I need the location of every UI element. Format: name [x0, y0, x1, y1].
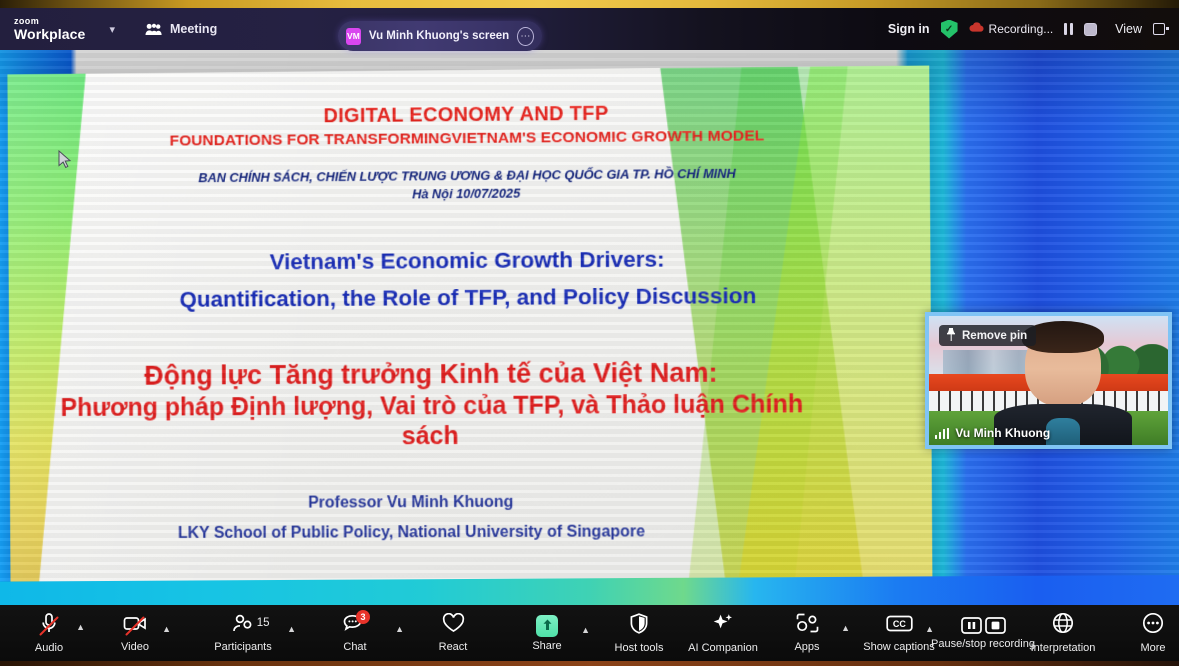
more-dots-icon	[1142, 612, 1164, 639]
top-bar: zoom Workplace ▾ Meeting VM Vu Minh Khuo…	[0, 8, 1179, 50]
toolbar-participants-button[interactable]: 15 Participants ▲	[216, 614, 270, 653]
toolbar-apps-button[interactable]: Apps ▲	[780, 613, 834, 653]
share-options-caret[interactable]: ▲	[581, 625, 590, 635]
chat-icon: 3	[343, 614, 367, 638]
pause-icon[interactable]	[1064, 23, 1073, 35]
recording-label: Recording...	[989, 22, 1054, 36]
toolbar-ai-companion-button[interactable]: AI Companion	[696, 613, 750, 654]
toolbar-pause-stop-recording-button[interactable]: Pause/stop recording	[956, 616, 1010, 650]
toolbar-video-button[interactable]: Video ▲	[108, 614, 162, 653]
slide-title-vn-2: Phương pháp Định lượng, Vai trò của TFP,…	[49, 389, 815, 453]
chevron-down-icon[interactable]: ▾	[109, 23, 115, 36]
slide-date: Hà Nội 10/07/2025	[8, 182, 930, 204]
stop-icon[interactable]	[1084, 23, 1097, 36]
toolbar-more-button[interactable]: More	[1126, 612, 1179, 654]
monitor-bezel-top	[0, 0, 1179, 8]
toolbar-label: More	[1140, 642, 1165, 654]
toolbar-label: Show captions	[863, 641, 935, 653]
video-feed: Remove pin Vu Minh Khuong	[929, 316, 1168, 445]
ai-sparkle-icon	[711, 613, 735, 639]
toolbar-audio-button[interactable]: Audio ▲	[22, 612, 76, 654]
pause-stop-record-icon	[961, 616, 1006, 635]
chat-options-caret[interactable]: ▲	[395, 624, 404, 634]
chat-unread-badge: 3	[356, 610, 370, 624]
toolbar-share-button[interactable]: Share ▲	[520, 615, 574, 652]
view-button[interactable]: View	[1115, 22, 1142, 36]
cloud-recording-icon	[969, 20, 984, 38]
video-options-caret[interactable]: ▲	[162, 624, 171, 634]
toolbar-show-captions-button[interactable]: CC Show captions ▲	[872, 614, 926, 653]
slide-content: DIGITAL ECONOMY AND TFP FOUNDATIONS FOR …	[7, 66, 932, 587]
security-shield-icon[interactable]: ✓	[941, 20, 958, 39]
meeting-label: Meeting	[170, 22, 217, 36]
toolbar-react-button[interactable]: React	[426, 613, 480, 653]
share-title: Vu Minh Khuong's screen	[369, 30, 509, 42]
zoom-logo: zoom Workplace	[14, 17, 85, 41]
heart-react-icon	[442, 613, 465, 638]
more-options-icon[interactable]: ⋯	[517, 27, 534, 46]
presentation-slide: DIGITAL ECONOMY AND TFP FOUNDATIONS FOR …	[7, 66, 932, 587]
slide-title-en-2: Quantification, the Role of TFP, and Pol…	[9, 282, 931, 314]
toolbar-label: Apps	[794, 641, 819, 653]
apps-icon	[796, 613, 819, 638]
participants-options-caret[interactable]: ▲	[287, 624, 296, 634]
participants-count: 15	[257, 617, 270, 629]
brand-workplace: Workplace	[14, 27, 85, 41]
zoom-meeting-window: zoom Workplace ▾ Meeting VM Vu Minh Khuo…	[0, 0, 1179, 666]
camera-muted-icon	[123, 614, 147, 638]
pin-icon	[946, 328, 956, 344]
audio-options-caret[interactable]: ▲	[76, 622, 85, 632]
screen-share-indicator[interactable]: VM Vu Minh Khuong's screen ⋯	[338, 21, 542, 51]
toolbar-label: Chat	[343, 641, 366, 653]
globe-icon	[1052, 612, 1074, 639]
host-tools-shield-icon	[629, 613, 649, 639]
slide-presenter: Professor Vu Minh Khuong	[10, 493, 816, 514]
toolbar-label: Host tools	[615, 642, 664, 654]
people-icon	[145, 23, 162, 36]
toolbar-chat-button[interactable]: 3 Chat ▲	[328, 614, 382, 653]
apps-options-caret[interactable]: ▲	[841, 623, 850, 633]
avatar: VM	[346, 28, 361, 45]
participants-icon: 15	[232, 614, 255, 638]
remove-pin-button[interactable]: Remove pin	[939, 325, 1036, 346]
microphone-muted-icon	[39, 612, 59, 639]
toolbar-label: Video	[121, 641, 149, 653]
toolbar-host-tools-button[interactable]: Host tools	[612, 613, 666, 654]
meeting-controls-toolbar: Audio ▲ Video ▲ 15 Participants ▲ 3 C	[0, 605, 1179, 661]
toolbar-label: Audio	[35, 642, 63, 654]
share-screen-icon	[536, 615, 558, 637]
view-layout-icon[interactable]	[1153, 23, 1165, 35]
shared-screen-stage: DIGITAL ECONOMY AND TFP FOUNDATIONS FOR …	[0, 50, 1179, 605]
slide-title-en-1: Vietnam's Economic Growth Drivers:	[9, 245, 931, 277]
captions-options-caret[interactable]: ▲	[925, 624, 934, 634]
toolbar-label: Pause/stop recording	[931, 638, 1035, 650]
toolbar-label: Participants	[214, 641, 271, 653]
slide-affiliation: LKY School of Public Policy, National Un…	[10, 523, 816, 544]
toolbar-label: AI Companion	[688, 642, 758, 654]
participant-name: Vu Minh Khuong	[955, 426, 1050, 440]
slide-title-vn-1: Động lực Tăng trưởng Kinh tế của Việt Na…	[49, 356, 815, 393]
toolbar-label: Interpretation	[1031, 642, 1096, 654]
mouse-cursor-icon	[58, 150, 72, 174]
top-bar-right: Sign in ✓ Recording... View	[888, 8, 1165, 50]
monitor-bezel-bottom	[0, 661, 1179, 666]
participant-video-tile[interactable]: Remove pin Vu Minh Khuong	[925, 312, 1172, 449]
toolbar-label: Share	[532, 640, 561, 652]
figure-shirt	[1046, 418, 1080, 445]
participant-name-label: Vu Minh Khuong	[935, 426, 1050, 440]
audio-level-icon	[935, 428, 949, 439]
brand-zoom: zoom	[14, 17, 85, 26]
sign-in-button[interactable]: Sign in	[888, 22, 930, 36]
recording-status[interactable]: Recording...	[969, 20, 1054, 38]
remove-pin-label: Remove pin	[962, 330, 1027, 342]
toolbar-label: React	[439, 641, 468, 653]
meeting-tab[interactable]: Meeting	[145, 22, 217, 36]
slide-title-vn: Động lực Tăng trưởng Kinh tế của Việt Na…	[49, 356, 816, 453]
toolbar-interpretation-button[interactable]: Interpretation	[1036, 612, 1090, 654]
svg-text:CC: CC	[892, 619, 905, 629]
closed-caption-icon: CC	[886, 614, 913, 638]
